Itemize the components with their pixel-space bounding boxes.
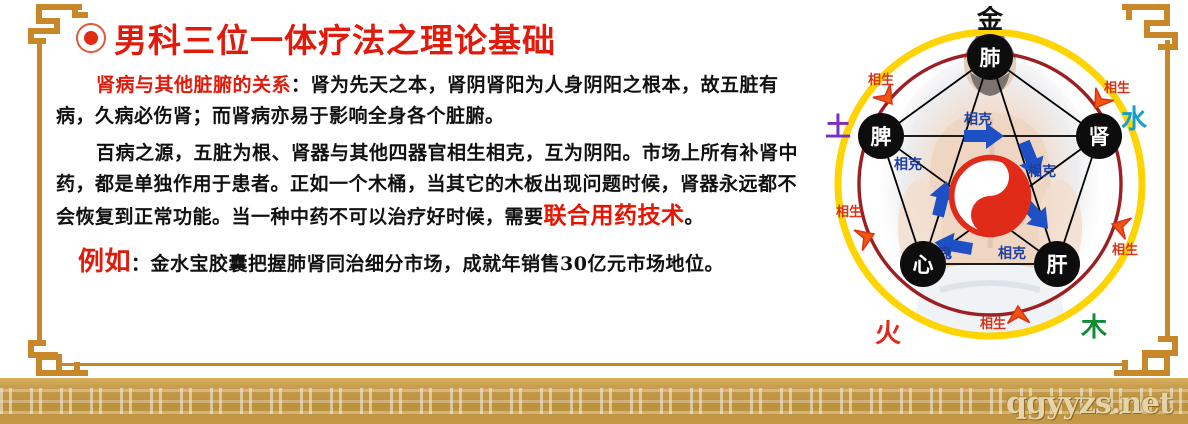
node-kidney[interactable]: 肾: [1076, 113, 1122, 159]
bullseye-icon: [76, 23, 106, 53]
page-title: 男科三位一体疗法之理论基础: [114, 14, 556, 62]
node-spleen[interactable]: 脾: [858, 113, 904, 159]
frame-rule-left: [37, 40, 42, 340]
paragraph-2-text-b: 。: [685, 206, 705, 228]
paragraph-five-organs: 百病之源，五脏为根、肾器与其他四器官相生相克，互为阴阳。市场上所有补肾中药，都是…: [56, 138, 816, 233]
ke-label-5: 相克: [998, 245, 1026, 262]
five-element-diagram: 相生 相生 相生 相生 相生: [812, 6, 1172, 356]
sheng-label-jin-shui: 相生: [1104, 80, 1130, 96]
ke-label-1: 相克: [964, 111, 992, 128]
node-lung[interactable]: 肺: [967, 34, 1013, 80]
paragraph-1-lead: 肾病与其他脏腑的关系: [96, 74, 291, 96]
element-label-water: 水: [1121, 105, 1148, 135]
frame-rule-bottom: [60, 363, 1128, 366]
watermark: qgyyzs.net: [1006, 386, 1172, 421]
node-label-liver: 肝: [1047, 253, 1068, 277]
title-row: 男科三位一体疗法之理论基础: [76, 14, 816, 62]
content-column: 男科三位一体疗法之理论基础 肾病与其他脏腑的关系：肾为先天之本，肾阴肾阳为人身阴…: [56, 8, 816, 358]
paragraph-kidney-relations: 肾病与其他脏腑的关系：肾为先天之本，肾阴肾阳为人身阴阳之根本，故五脏有病，久病必…: [56, 70, 816, 132]
paragraph-3-lead: 例如: [78, 247, 131, 277]
sheng-label-huo-tu: 相生: [836, 204, 862, 220]
ke-label-3: 相克: [1028, 163, 1056, 180]
paragraph-example: 例如：金水宝胶囊把握肺肾同治细分市场，成就年销售30亿元市场地位。: [78, 247, 816, 280]
ke-label-2: 相克: [894, 156, 922, 173]
sheng-label-mu-huo: 相生: [980, 316, 1006, 332]
node-label-spleen: 脾: [871, 125, 892, 149]
node-heart[interactable]: 心: [900, 241, 946, 287]
node-liver[interactable]: 肝: [1034, 241, 1080, 287]
node-label-lung: 肺: [980, 46, 1001, 70]
poster-page: 男科三位一体疗法之理论基础 肾病与其他脏腑的关系：肾为先天之本，肾阴肾阳为人身阴…: [0, 0, 1188, 424]
sheng-label-tu-jin: 相生: [868, 72, 894, 88]
element-label-metal: 金: [976, 6, 1004, 35]
node-label-kidney: 肾: [1089, 125, 1110, 149]
element-label-earth: 土: [825, 113, 851, 143]
element-label-fire: 火: [875, 319, 901, 349]
element-label-wood: 木: [1080, 313, 1107, 343]
paragraph-3-text: ：金水宝胶囊把握肺肾同治细分市场，成就年销售30亿元市场地位。: [131, 253, 724, 275]
sheng-label-shui-mu: 相生: [1112, 242, 1138, 258]
bottom-decorative-band: qgyyzs.net: [0, 378, 1188, 424]
taiji-yinyang-icon: [950, 156, 1030, 236]
paragraph-2-emphasis: 联合用药技术: [544, 202, 685, 229]
node-label-heart: 心: [913, 253, 934, 277]
